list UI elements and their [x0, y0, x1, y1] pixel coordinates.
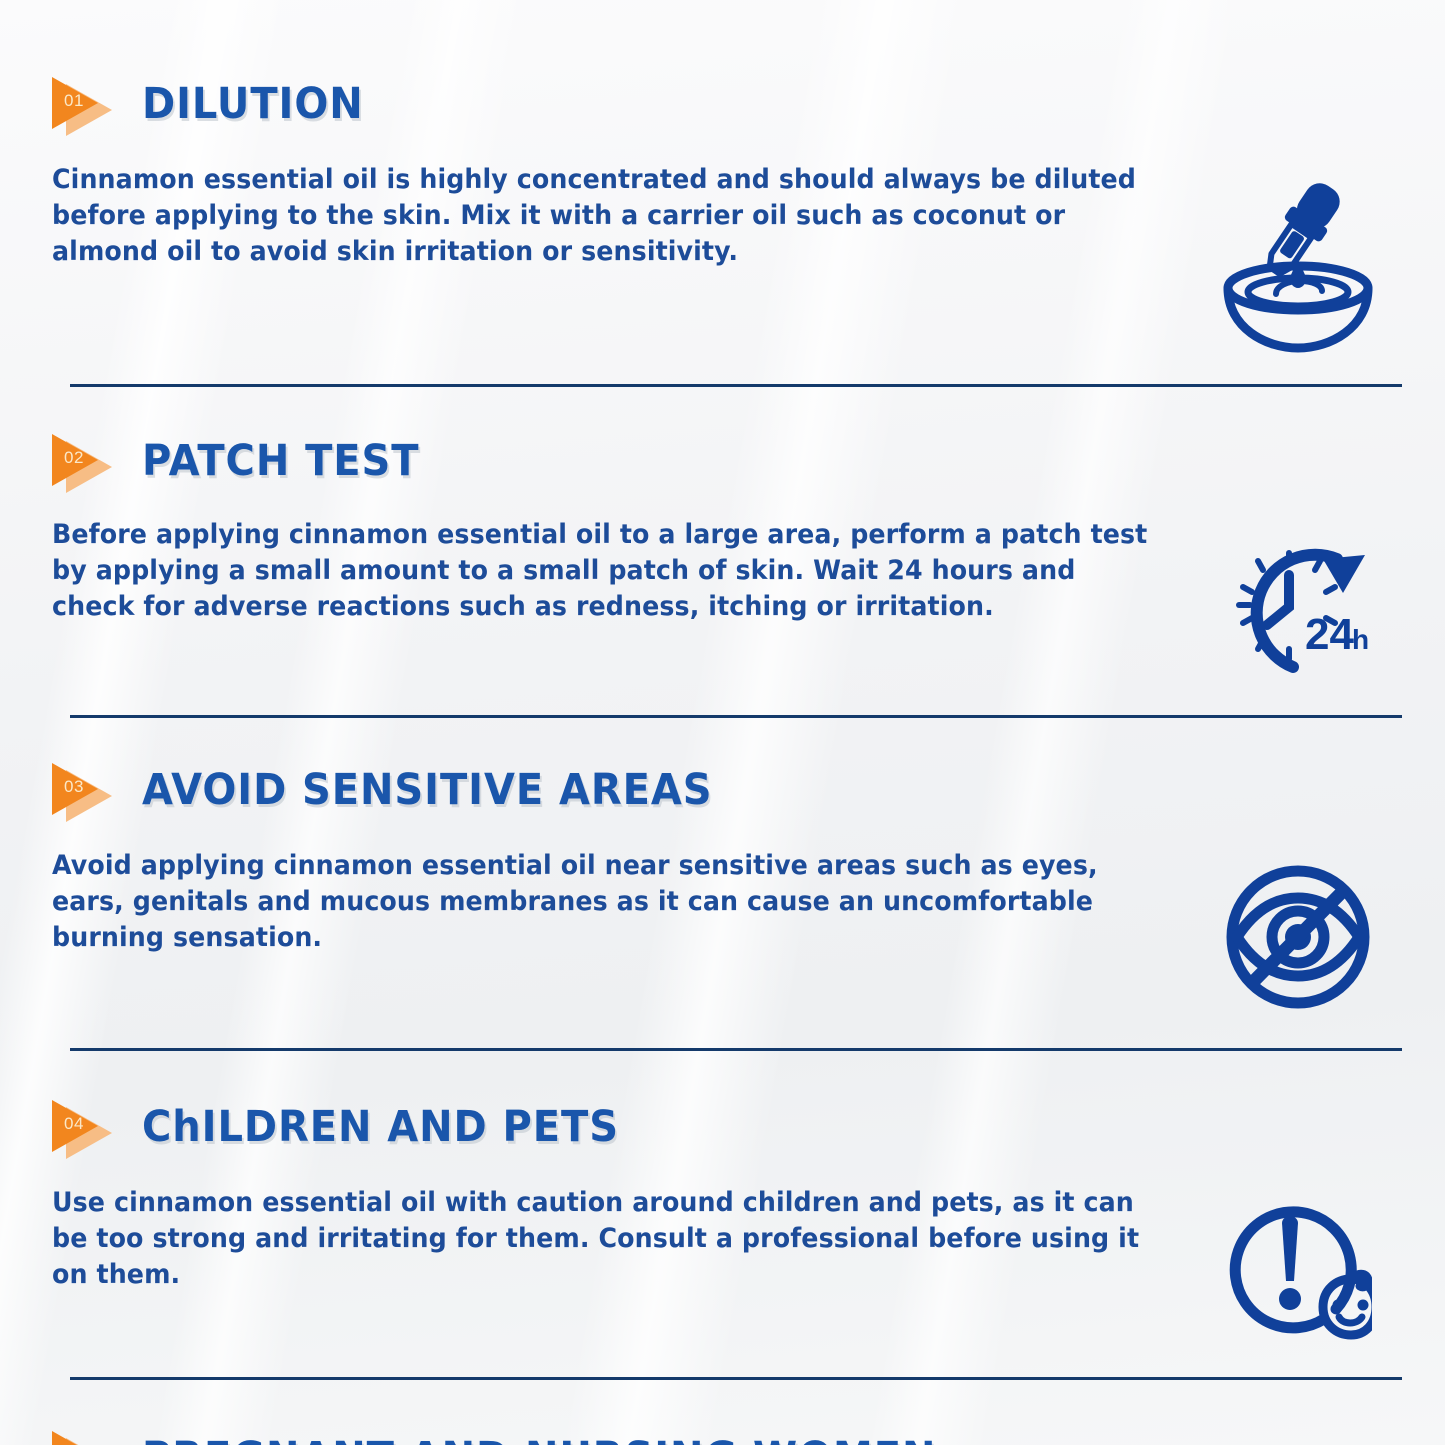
- section-avoid-sensitive-areas: 03 AVOID SENSITIVE AREAS Avoid applying …: [52, 718, 1393, 1051]
- section-icon: [1202, 1185, 1393, 1343]
- infographic-page: 01 DILUTION Cinnamon essential oil is hi…: [0, 0, 1445, 1445]
- section-title: DILUTION: [142, 83, 364, 126]
- svg-text:24: 24: [1305, 610, 1354, 659]
- section-title: PATCH TEST: [142, 440, 419, 483]
- section-children-and-pets: 04 ChILDREN AND PETS Use cinnamon essent…: [52, 1051, 1393, 1380]
- badge-triangle-front-icon: [52, 1431, 98, 1445]
- section-header: 04 ChILDREN AND PETS: [52, 1097, 1393, 1157]
- section-body: Before applying cinnamon essential oil t…: [52, 517, 1150, 625]
- section-header: 03 AVOID SENSITIVE AREAS: [52, 760, 1393, 820]
- step-number-badge: 04: [52, 1097, 124, 1157]
- step-number-badge: 01: [52, 74, 124, 134]
- warning-baby-icon: [1224, 1199, 1372, 1343]
- section-pregnant-and-nursing-women: 05 PREGNANT AND NURSING WOMEN Pregnant o…: [52, 1380, 1393, 1445]
- step-number-badge: 05: [52, 1428, 124, 1445]
- step-number: 01: [57, 91, 91, 111]
- section-icon: [1202, 162, 1393, 354]
- step-number: 02: [57, 448, 91, 468]
- section-header: 05 PREGNANT AND NURSING WOMEN: [52, 1428, 1393, 1445]
- section-header: 01 DILUTION: [52, 74, 1393, 134]
- section-title: ChILDREN AND PETS: [142, 1106, 619, 1149]
- section-icon: 24 h: [1202, 517, 1393, 683]
- section-body: Cinnamon essential oil is highly concent…: [52, 162, 1150, 270]
- section-dilution: 01 DILUTION Cinnamon essential oil is hi…: [52, 0, 1393, 387]
- section-header: 02 PATCH TEST: [52, 431, 1393, 491]
- step-number-badge: 02: [52, 431, 124, 491]
- section-icon: [1202, 848, 1393, 1012]
- step-number: 04: [57, 1114, 91, 1134]
- step-number: 03: [57, 777, 91, 797]
- svg-text:h: h: [1352, 624, 1369, 655]
- section-body: Use cinnamon essential oil with caution …: [52, 1185, 1150, 1293]
- section-body: Avoid applying cinnamon essential oil ne…: [52, 848, 1150, 956]
- clock-24h-icon: 24 h: [1217, 531, 1379, 683]
- dropper-bowl-icon: [1214, 176, 1382, 354]
- section-title: PREGNANT AND NURSING WOMEN: [142, 1437, 936, 1445]
- section-patch-test: 02 PATCH TEST Before applying cinnamon e…: [52, 387, 1393, 718]
- no-eye-icon: [1223, 862, 1373, 1012]
- section-title: AVOID SENSITIVE AREAS: [142, 769, 712, 812]
- step-number-badge: 03: [52, 760, 124, 820]
